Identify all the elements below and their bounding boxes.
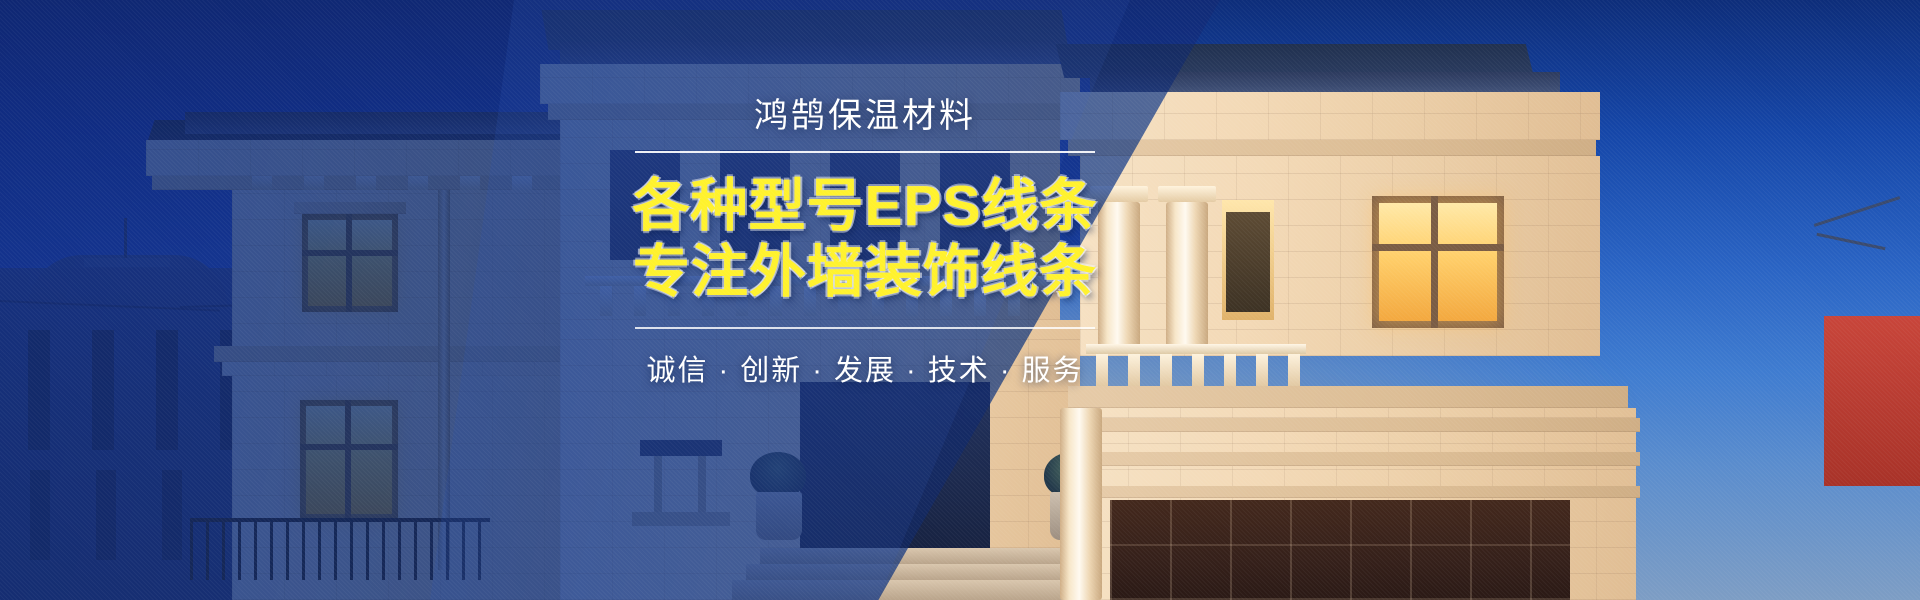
brand-name: 鸿鹄保温材料: [585, 96, 1145, 137]
headline-line-2: 专注外墙装饰线条: [585, 239, 1145, 305]
garage-door: [1110, 500, 1570, 600]
banner-copy: 鸿鹄保温材料 各种型号EPS线条 专注外墙装饰线条 诚信 · 创新 · 发展 ·…: [585, 96, 1145, 389]
tagline: 诚信 · 创新 · 发展 · 技术 · 服务: [585, 347, 1145, 389]
column: [1060, 408, 1102, 600]
column: [1166, 202, 1208, 352]
divider-bottom: [635, 327, 1095, 329]
headline-line-1: 各种型号EPS线条: [585, 173, 1145, 239]
hero-banner: 鸿鹄保温材料 各种型号EPS线条 专注外墙装饰线条 诚信 · 创新 · 发展 ·…: [0, 0, 1920, 600]
divider-top: [635, 151, 1095, 153]
red-container: [1824, 316, 1920, 486]
